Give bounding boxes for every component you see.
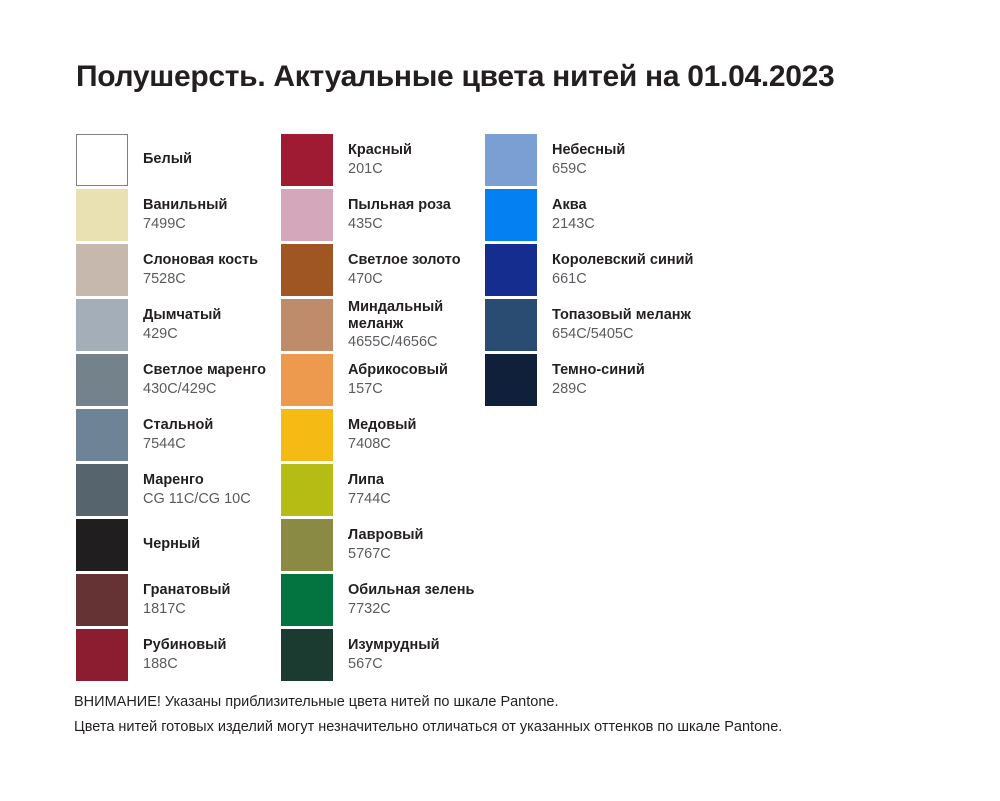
color-name: Абрикосовый <box>348 362 448 379</box>
swatch-labels: Светлое золото470C <box>348 252 461 287</box>
color-swatch[interactable] <box>281 519 333 571</box>
swatch-row[interactable]: Белый <box>76 134 281 186</box>
color-name: Обильная зелень <box>348 582 474 599</box>
swatch-row[interactable]: Красный201C <box>281 134 485 186</box>
pantone-code: 1817C <box>143 601 230 618</box>
swatch-row[interactable]: МаренгоCG 11C/CG 10C <box>76 464 281 516</box>
color-swatch[interactable] <box>76 134 128 186</box>
color-swatch[interactable] <box>76 464 128 516</box>
color-swatch[interactable] <box>485 134 537 186</box>
pantone-code: 661C <box>552 271 693 288</box>
pantone-code: 157C <box>348 381 448 398</box>
swatch-labels: Небесный659C <box>552 142 625 177</box>
swatch-row[interactable]: Светлое маренго430C/429C <box>76 354 281 406</box>
pantone-code: 654C/5405C <box>552 326 691 343</box>
pantone-code: 289C <box>552 381 645 398</box>
pantone-code: 470C <box>348 271 461 288</box>
color-name: Светлое золото <box>348 252 461 269</box>
pantone-code: 430C/429C <box>143 381 266 398</box>
footer-line-1: ВНИМАНИЕ! Указаны приблизительные цвета … <box>74 690 954 715</box>
color-name: Светлое маренго <box>143 362 266 379</box>
swatch-row[interactable]: Пыльная роза435C <box>281 189 485 241</box>
color-name: Слоновая кость <box>143 252 258 269</box>
swatch-row[interactable]: Королевский синий661C <box>485 244 785 296</box>
swatch-column-2: Красный201CПыльная роза435CСветлое золот… <box>281 134 485 684</box>
color-swatch[interactable] <box>281 409 333 461</box>
pantone-code: 7408C <box>348 436 416 453</box>
swatch-labels: Черный <box>143 536 200 553</box>
swatch-labels: Ванильный7499C <box>143 197 227 232</box>
swatch-row[interactable]: Стальной7544C <box>76 409 281 461</box>
swatch-labels: Липа7744C <box>348 472 391 507</box>
color-swatch[interactable] <box>281 464 333 516</box>
color-swatch[interactable] <box>76 244 128 296</box>
swatch-labels: Красный201C <box>348 142 412 177</box>
pantone-code: 4655C/4656C <box>348 334 478 351</box>
pantone-code: 188C <box>143 656 226 673</box>
color-name: Белый <box>143 151 192 168</box>
swatch-labels: МаренгоCG 11C/CG 10C <box>143 472 251 507</box>
swatch-labels: Стальной7544C <box>143 417 213 452</box>
swatch-row[interactable]: Светлое золото470C <box>281 244 485 296</box>
color-name: Липа <box>348 472 391 489</box>
swatch-row[interactable]: Топазовый меланж654C/5405C <box>485 299 785 351</box>
swatch-column-1: БелыйВанильный7499CСлоновая кость7528CДы… <box>76 134 281 684</box>
swatch-labels: Пыльная роза435C <box>348 197 451 232</box>
color-name: Топазовый меланж <box>552 307 691 324</box>
color-swatch[interactable] <box>485 244 537 296</box>
swatch-labels: Темно-синий289C <box>552 362 645 397</box>
swatch-row[interactable]: Абрикосовый157C <box>281 354 485 406</box>
color-name: Королевский синий <box>552 252 693 269</box>
swatch-row[interactable]: Гранатовый1817C <box>76 574 281 626</box>
pantone-code: 7499C <box>143 216 227 233</box>
swatch-labels: Обильная зелень7732C <box>348 582 474 617</box>
color-chart-page: Полушерсть. Актуальные цвета нитей на 01… <box>0 0 1000 801</box>
page-title: Полушерсть. Актуальные цвета нитей на 01… <box>76 60 956 94</box>
color-name: Изумрудный <box>348 637 440 654</box>
color-name: Медовый <box>348 417 416 434</box>
swatch-row[interactable]: Слоновая кость7528C <box>76 244 281 296</box>
swatch-row[interactable]: Медовый7408C <box>281 409 485 461</box>
swatch-row[interactable]: Лавровый5767C <box>281 519 485 571</box>
color-swatch[interactable] <box>281 629 333 681</box>
swatch-labels: Лавровый5767C <box>348 527 423 562</box>
swatch-row[interactable]: Изумрудный567C <box>281 629 485 681</box>
color-name: Аква <box>552 197 595 214</box>
swatch-row[interactable]: Ванильный7499C <box>76 189 281 241</box>
swatch-row[interactable]: Темно-синий289C <box>485 354 785 406</box>
swatch-row[interactable]: Аква2143C <box>485 189 785 241</box>
color-name: Небесный <box>552 142 625 159</box>
color-name: Рубиновый <box>143 637 226 654</box>
color-name: Красный <box>348 142 412 159</box>
color-swatch[interactable] <box>281 354 333 406</box>
color-swatch[interactable] <box>281 574 333 626</box>
pantone-code: 659C <box>552 161 625 178</box>
swatch-labels: Миндальный меланж4655C/4656C <box>348 299 478 351</box>
swatch-labels: Топазовый меланж654C/5405C <box>552 307 691 342</box>
color-swatch[interactable] <box>485 189 537 241</box>
swatch-labels: Белый <box>143 151 192 168</box>
pantone-code: 5767C <box>348 546 423 563</box>
color-swatch[interactable] <box>485 354 537 406</box>
swatch-labels: Аква2143C <box>552 197 595 232</box>
color-name: Темно-синий <box>552 362 645 379</box>
swatch-row[interactable]: Дымчатый429C <box>76 299 281 351</box>
swatch-labels: Изумрудный567C <box>348 637 440 672</box>
swatch-row[interactable]: Миндальный меланж4655C/4656C <box>281 299 485 351</box>
footer-note: ВНИМАНИЕ! Указаны приблизительные цвета … <box>74 690 954 740</box>
swatch-labels: Светлое маренго430C/429C <box>143 362 266 397</box>
color-swatch[interactable] <box>76 409 128 461</box>
pantone-code: 2143C <box>552 216 595 233</box>
pantone-code: 7544C <box>143 436 213 453</box>
pantone-code: 7732C <box>348 601 474 618</box>
color-swatch[interactable] <box>76 299 128 351</box>
color-swatch[interactable] <box>281 299 333 351</box>
color-name: Миндальный меланж <box>348 299 478 333</box>
swatch-columns: БелыйВанильный7499CСлоновая кость7528CДы… <box>76 134 956 684</box>
color-name: Маренго <box>143 472 251 489</box>
pantone-code: 435C <box>348 216 451 233</box>
color-swatch[interactable] <box>76 354 128 406</box>
color-swatch[interactable] <box>281 189 333 241</box>
pantone-code: 567C <box>348 656 440 673</box>
swatch-labels: Королевский синий661C <box>552 252 693 287</box>
pantone-code: 201C <box>348 161 412 178</box>
swatch-column-3: Небесный659CАква2143CКоролевский синий66… <box>485 134 785 409</box>
swatch-row[interactable]: Рубиновый188C <box>76 629 281 681</box>
color-swatch[interactable] <box>76 574 128 626</box>
swatch-labels: Дымчатый429C <box>143 307 221 342</box>
color-swatch[interactable] <box>485 299 537 351</box>
swatch-labels: Абрикосовый157C <box>348 362 448 397</box>
pantone-code: 7528C <box>143 271 258 288</box>
color-name: Ванильный <box>143 197 227 214</box>
pantone-code: 7744C <box>348 491 391 508</box>
swatch-labels: Медовый7408C <box>348 417 416 452</box>
swatch-row[interactable]: Липа7744C <box>281 464 485 516</box>
swatch-row[interactable]: Обильная зелень7732C <box>281 574 485 626</box>
color-swatch[interactable] <box>281 244 333 296</box>
swatch-labels: Рубиновый188C <box>143 637 226 672</box>
swatch-labels: Слоновая кость7528C <box>143 252 258 287</box>
swatch-row[interactable]: Черный <box>76 519 281 571</box>
swatch-labels: Гранатовый1817C <box>143 582 230 617</box>
color-name: Лавровый <box>348 527 423 544</box>
color-name: Гранатовый <box>143 582 230 599</box>
color-name: Пыльная роза <box>348 197 451 214</box>
color-swatch[interactable] <box>281 134 333 186</box>
color-swatch[interactable] <box>76 189 128 241</box>
pantone-code: 429C <box>143 326 221 343</box>
color-name: Черный <box>143 536 200 553</box>
pantone-code: CG 11C/CG 10C <box>143 491 251 508</box>
color-name: Стальной <box>143 417 213 434</box>
color-name: Дымчатый <box>143 307 221 324</box>
footer-line-2: Цвета нитей готовых изделий могут незнач… <box>74 715 954 740</box>
color-swatch[interactable] <box>76 629 128 681</box>
swatch-row[interactable]: Небесный659C <box>485 134 785 186</box>
color-swatch[interactable] <box>76 519 128 571</box>
